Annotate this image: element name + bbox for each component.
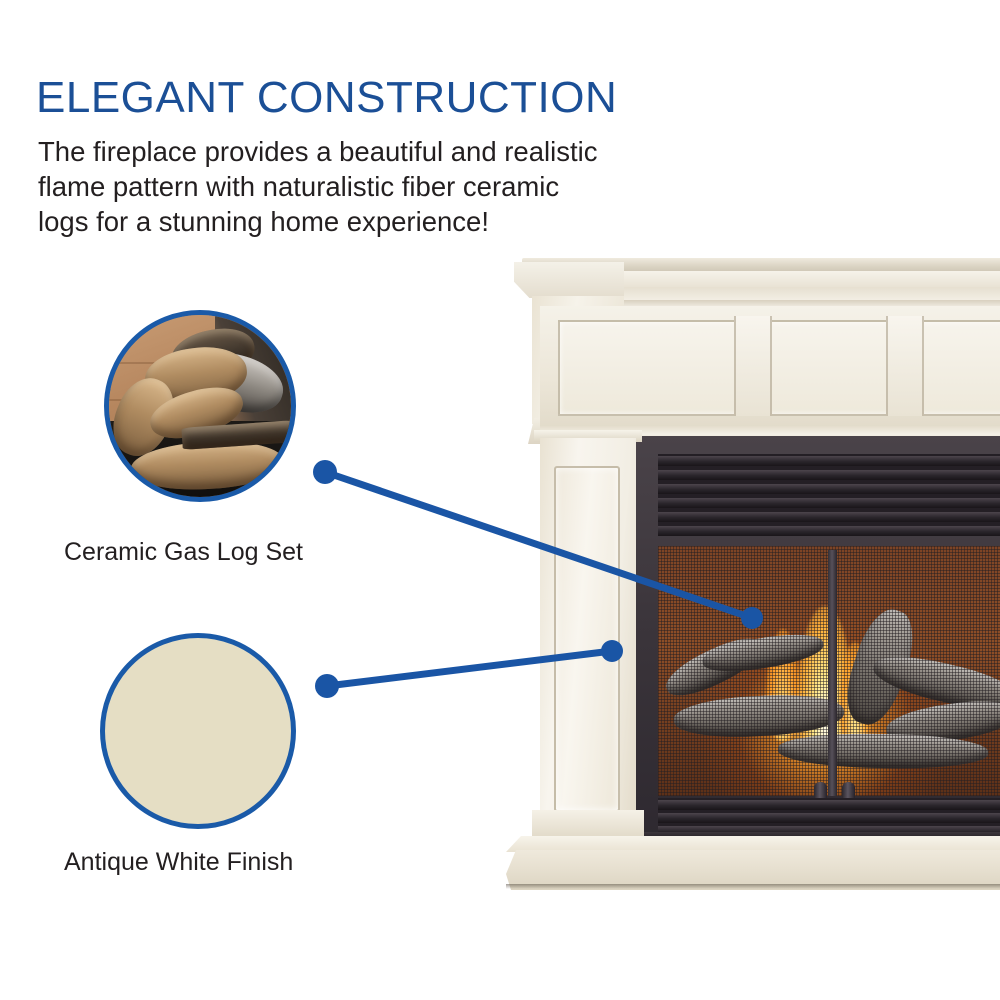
mantel-shelf-left-return [514,262,624,298]
infographic-canvas: ELEGANT CONSTRUCTION The fireplace provi… [0,0,1000,1000]
pilaster-base-block [532,810,644,840]
fireplace-product-image [506,258,1000,890]
mantel-frieze-inset-panel [558,320,1000,416]
callout-label-ceramic-gas-log-set: Ceramic Gas Log Set [64,538,303,567]
description-paragraph: The fireplace provides a beautiful and r… [38,134,608,239]
frieze-raised-block [734,316,772,416]
page-title: ELEGANT CONSTRUCTION [36,76,617,120]
pilaster-recessed-panel [554,466,620,812]
callout-swatch-antique-white-finish[interactable] [100,633,296,829]
hearth-base-shadow [506,884,1000,889]
gas-log-photo [109,315,291,497]
upper-louver-vent [658,454,1000,536]
hearth-base-top [506,836,1000,852]
callout-swatch-ceramic-gas-log-set[interactable] [104,310,296,502]
glass-door-divider [828,550,837,796]
frieze-raised-block [886,316,924,416]
callout-label-antique-white-finish: Antique White Finish [64,848,293,877]
